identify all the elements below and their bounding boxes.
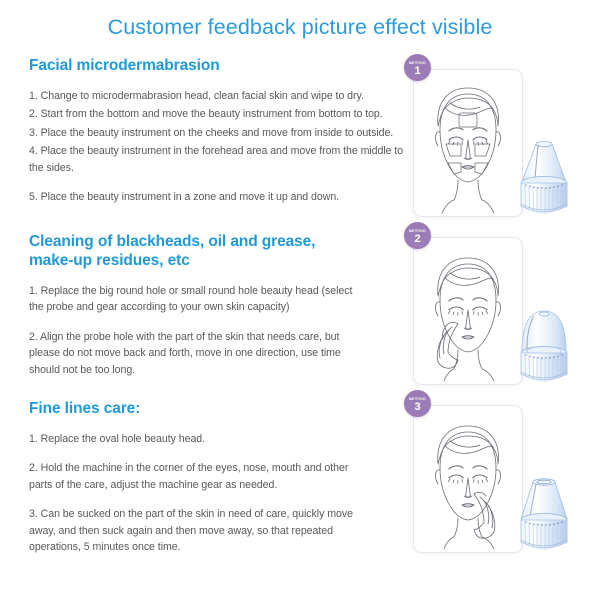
method-badge-number: 2 <box>404 233 431 245</box>
section-2-heading: Cleaning of blackheads, oil and grease, … <box>29 232 359 270</box>
illustration-panel-method-1: METHOD 1 <box>408 60 598 225</box>
step-item: 3. Place the beauty instrument on the ch… <box>29 125 409 141</box>
step-item: 3. Can be sucked on the part of the skin… <box>29 506 359 555</box>
step-item: 2. Align the probe hole with the part of… <box>29 329 359 378</box>
step-item: 1. Replace the oval hole beauty head. <box>29 431 359 447</box>
method-badge-3: METHOD 3 <box>404 390 431 417</box>
microdermabrasion-cone-head-icon <box>500 138 588 220</box>
section-1-steps: 1. Change to microdermabrasion head, cle… <box>29 88 409 205</box>
step-item: 4. Place the beauty instrument in the fo… <box>29 143 409 176</box>
device-head-cone <box>500 138 588 225</box>
illustration-panel-method-2: METHOD 2 <box>408 228 598 393</box>
section-cleaning-blackheads: Cleaning of blackheads, oil and grease, … <box>29 232 359 380</box>
method-badge-number: 3 <box>404 401 431 413</box>
step-item: 5. Place the beauty instrument in a zone… <box>29 189 409 205</box>
section-3-heading: Fine lines care: <box>29 399 359 418</box>
illustration-panel-method-3: METHOD 3 <box>408 396 598 561</box>
section-2-steps: 1. Replace the big round hole or small r… <box>29 283 359 378</box>
section-fine-lines-care: Fine lines care: 1. Replace the oval hol… <box>29 399 359 557</box>
step-item: 1. Replace the big round hole or small r… <box>29 283 359 316</box>
method-badge-1: METHOD 1 <box>404 54 431 81</box>
device-head-dome <box>500 306 588 393</box>
top-clipped-strip: · · · · · · · · <box>0 0 600 11</box>
step-item: 2. Start from the bottom and move the be… <box>29 106 409 122</box>
round-hole-dome-head-icon <box>500 306 588 388</box>
device-head-oval <box>500 474 588 561</box>
page-title: Customer feedback picture effect visible <box>0 15 600 40</box>
section-3-steps: 1. Replace the oval hole beauty head. 2.… <box>29 431 359 555</box>
step-item: 2. Hold the machine in the corner of the… <box>29 460 359 493</box>
method-badge-word: METHOD <box>404 54 431 65</box>
section-facial-microdermabrasion: Facial microdermabrasion 1. Change to mi… <box>29 56 409 207</box>
oval-hole-head-icon <box>500 474 588 556</box>
method-badge-2: METHOD 2 <box>404 222 431 249</box>
method-badge-number: 1 <box>404 65 431 77</box>
method-badge-word: METHOD <box>404 222 431 233</box>
section-1-heading: Facial microdermabrasion <box>29 56 409 75</box>
method-badge-word: METHOD <box>404 390 431 401</box>
step-item: 1. Change to microdermabrasion head, cle… <box>29 88 409 104</box>
